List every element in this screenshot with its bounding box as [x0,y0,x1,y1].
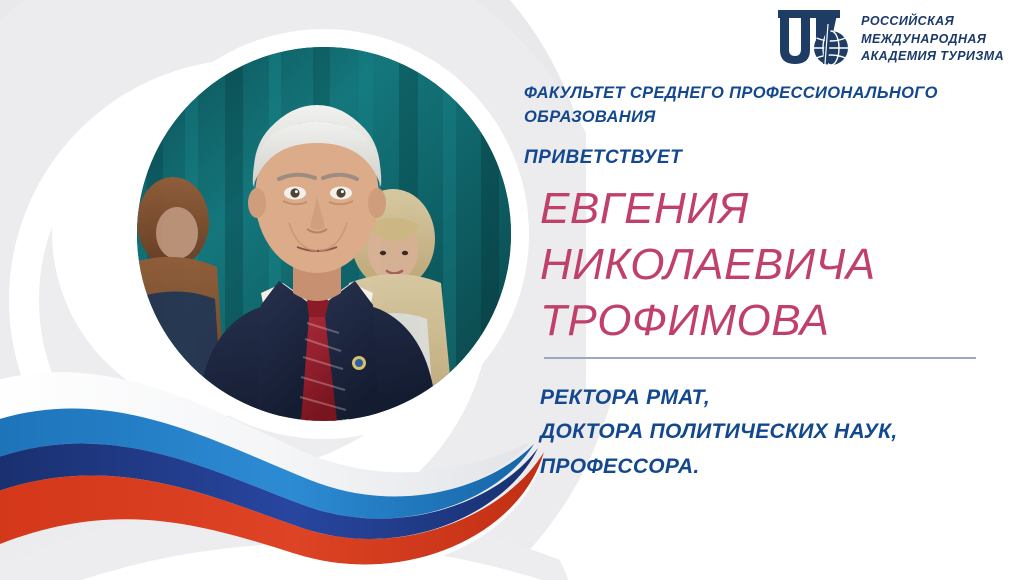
faculty-title: ФАКУЛЬТЕТ СРЕДНЕГО ПРОФЕССИОНАЛЬНОГО ОБР… [524,82,976,130]
name-divider [544,357,976,359]
greeting-slide: РОССИЙСКАЯ МЕЖДУНАРОДНАЯ АКАДЕМИЯ ТУРИЗМ… [0,0,1024,580]
name-line-surname: ТРОФИМОВА [540,293,994,349]
honoree-titles: РЕКТОРА РМАТ, ДОКТОРА ПОЛИТИЧЕСКИХ НАУК,… [540,381,994,483]
portrait-illustration [137,47,511,421]
honoree-name: ЕВГЕНИЯ НИКОЛАЕВИЧА ТРОФИМОВА [540,181,994,349]
name-line-first: ЕВГЕНИЯ [540,181,994,237]
logo-line-2: МЕЖДУНАРОДНАЯ [861,31,1004,48]
portrait-clip [137,47,511,421]
title-line-2: ДОКТОРА ПОЛИТИЧЕСКИХ НАУК, [540,415,994,449]
text-content: ФАКУЛЬТЕТ СРЕДНЕГО ПРОФЕССИОНАЛЬНОГО ОБР… [524,82,994,484]
rmat-globe-logo-icon [776,10,850,68]
rmat-logo-text: РОССИЙСКАЯ МЕЖДУНАРОДНАЯ АКАДЕМИЯ ТУРИЗМ… [861,13,1004,65]
greeting-word: ПРИВЕТСТВУЕТ [524,147,994,169]
title-line-1: РЕКТОРА РМАТ, [540,381,994,415]
logo-line-3: АКАДЕМИЯ ТУРИЗМА [861,48,1004,65]
logo-line-1: РОССИЙСКАЯ [861,13,1004,30]
title-line-3: ПРОФЕССОРА. [540,450,994,484]
name-line-patronymic: НИКОЛАЕВИЧА [540,237,994,293]
rmat-logo: РОССИЙСКАЯ МЕЖДУНАРОДНАЯ АКАДЕМИЯ ТУРИЗМ… [776,10,1004,68]
portrait-photo [128,38,520,430]
